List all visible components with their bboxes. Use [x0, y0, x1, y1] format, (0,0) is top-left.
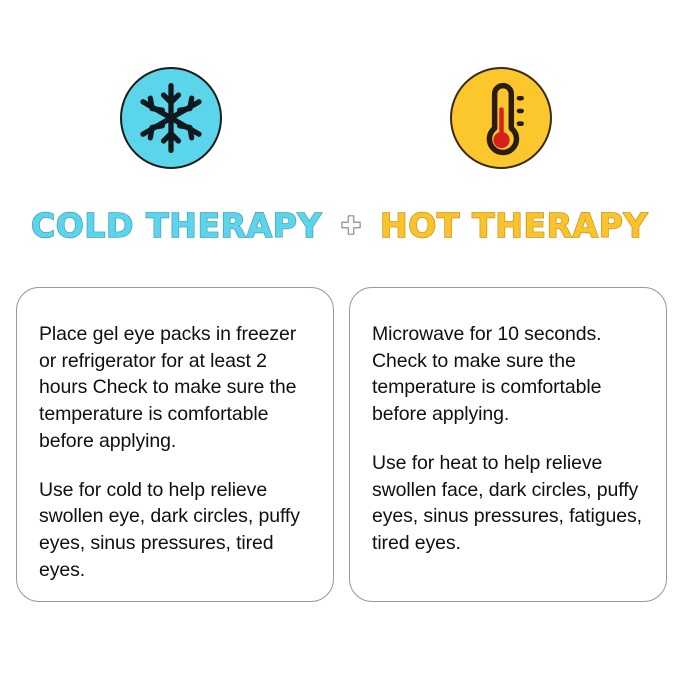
- plus-icon: [340, 214, 362, 236]
- hot-uses-paragraph: Use for heat to help relieve swollen fac…: [372, 450, 650, 557]
- titles-row: COLD THERAPY HOT THERAPY: [0, 200, 679, 250]
- hot-instructions-paragraph: Microwave for 10 seconds. Check to make …: [372, 321, 650, 428]
- cold-instructions-paragraph: Place gel eye packs in freezer or refrig…: [39, 321, 317, 455]
- hot-therapy-card: Microwave for 10 seconds. Check to make …: [349, 287, 667, 602]
- hot-therapy-title: HOT THERAPY: [380, 209, 648, 242]
- snowflake-icon: [122, 69, 220, 167]
- cold-uses-paragraph: Use for cold to help relieve swollen eye…: [39, 477, 317, 584]
- cold-therapy-icon-badge: [120, 67, 222, 169]
- cold-therapy-title: COLD THERAPY: [31, 209, 322, 242]
- cold-therapy-card: Place gel eye packs in freezer or refrig…: [16, 287, 334, 602]
- hot-therapy-icon-badge: [450, 67, 552, 169]
- thermometer-icon: [452, 69, 550, 167]
- infographic-page: COLD THERAPY HOT THERAPY Place gel eye p…: [0, 0, 679, 679]
- cards-row: Place gel eye packs in freezer or refrig…: [0, 287, 679, 603]
- icon-row: [0, 62, 679, 184]
